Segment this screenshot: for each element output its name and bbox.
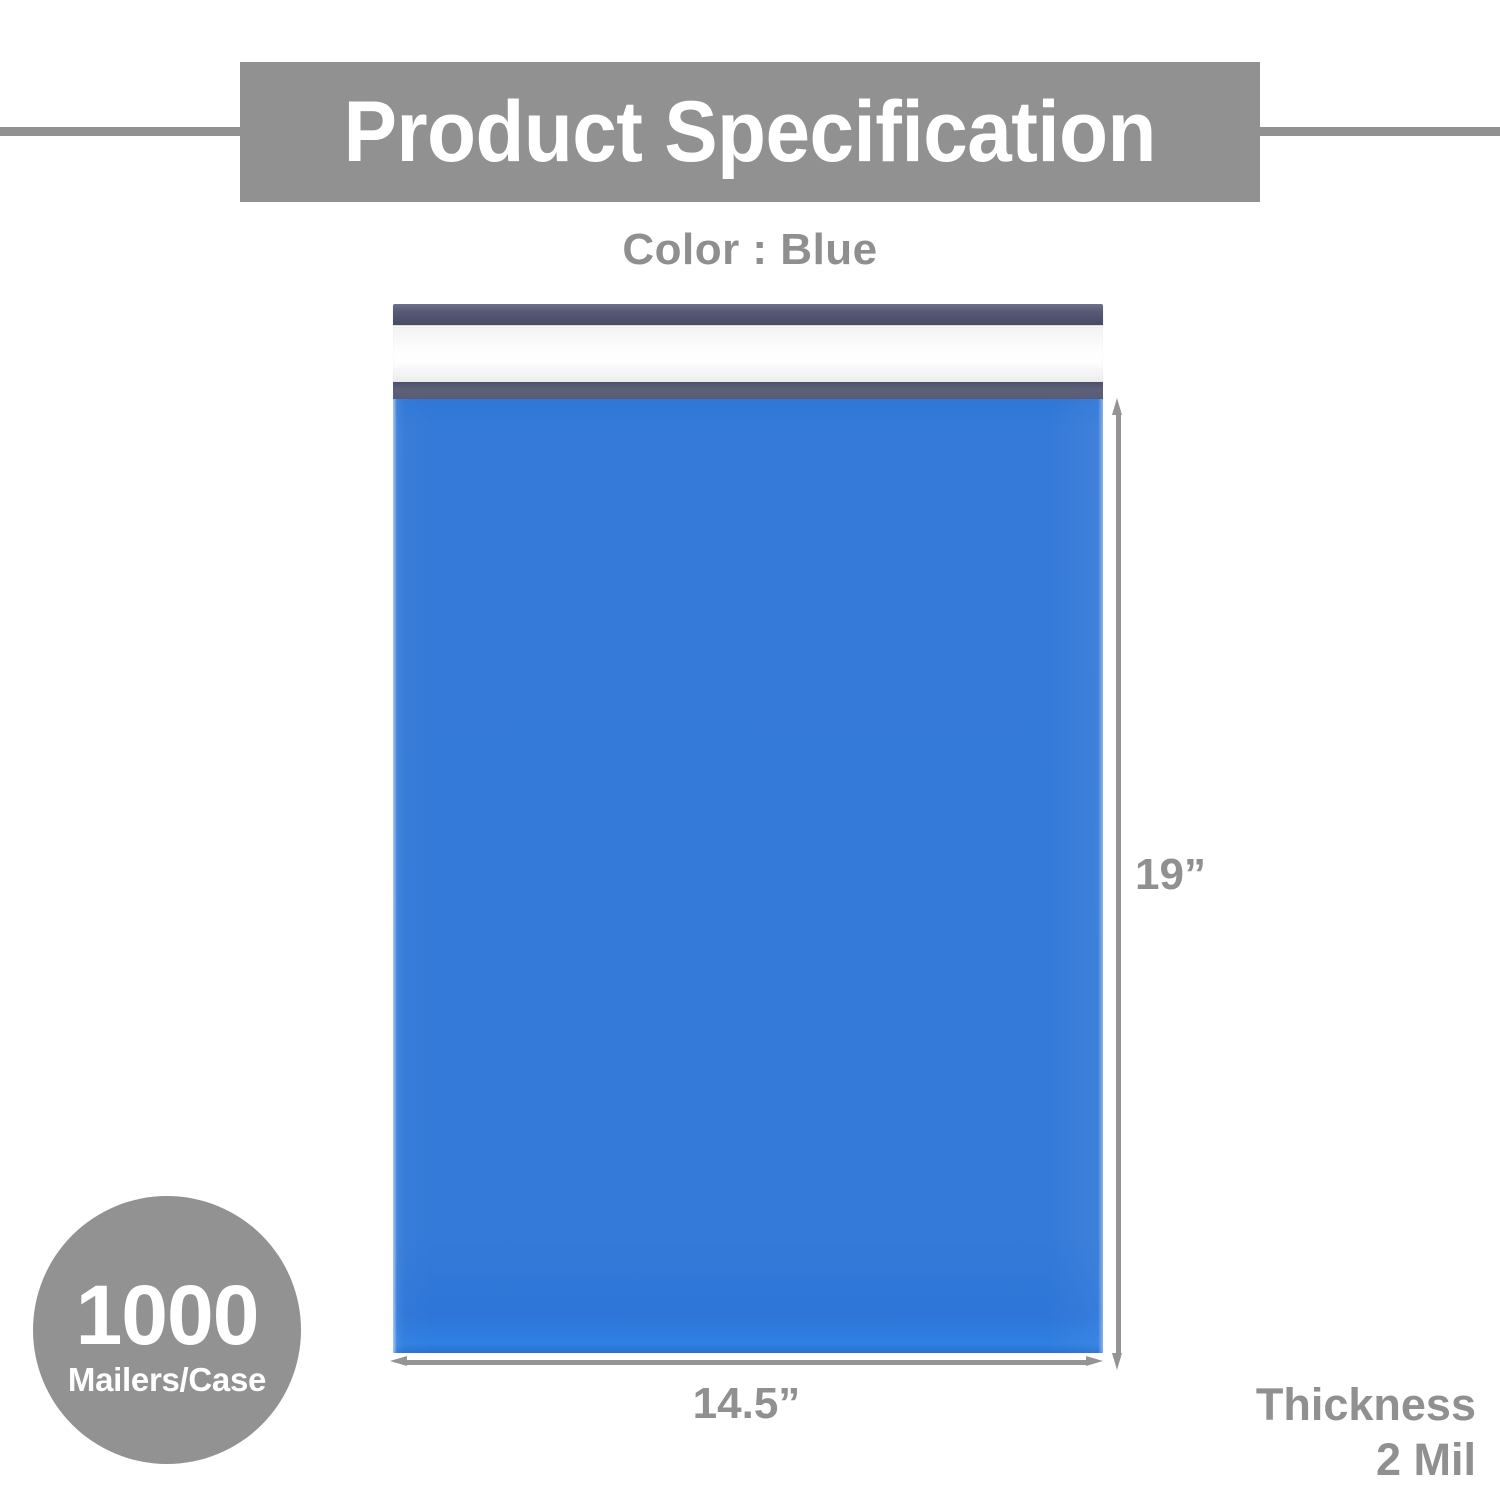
height-dimension-label: 19” [1135, 853, 1206, 897]
quantity-unit-label: Mailers/Case [68, 1363, 266, 1396]
quantity-badge: 1000 Mailers/Case [33, 1196, 301, 1464]
header-banner: Product Specification [240, 62, 1260, 202]
bag-body-left-highlight [393, 399, 397, 1353]
page-title: Product Specification [344, 89, 1156, 175]
bag-adhesive-liner [393, 327, 1103, 382]
thickness-block: Thickness 2 Mil [1256, 1378, 1476, 1488]
dimension-line [1116, 413, 1121, 1355]
bag-flap-top-strip [393, 304, 1103, 325]
poly-mailer-bag-image [393, 304, 1103, 1353]
arrow-right-icon [1086, 1356, 1103, 1366]
width-dimension-arrow [390, 1356, 1103, 1367]
header-rule-right [1256, 127, 1500, 136]
header-rule-left [0, 127, 244, 136]
thickness-title: Thickness [1256, 1378, 1476, 1433]
thickness-value: 2 Mil [1256, 1433, 1476, 1488]
bag-flap-bottom-strip [393, 382, 1103, 400]
bag-body [393, 399, 1103, 1353]
arrow-down-icon [1112, 1353, 1122, 1370]
bag-body-right-highlight [1098, 399, 1103, 1353]
width-dimension-label: 14.5” [390, 1382, 1103, 1426]
color-spec-label: Color : Blue [0, 228, 1500, 272]
height-dimension-arrow [1112, 398, 1123, 1370]
quantity-count: 1000 [76, 1276, 259, 1356]
dimension-line [405, 1360, 1088, 1365]
